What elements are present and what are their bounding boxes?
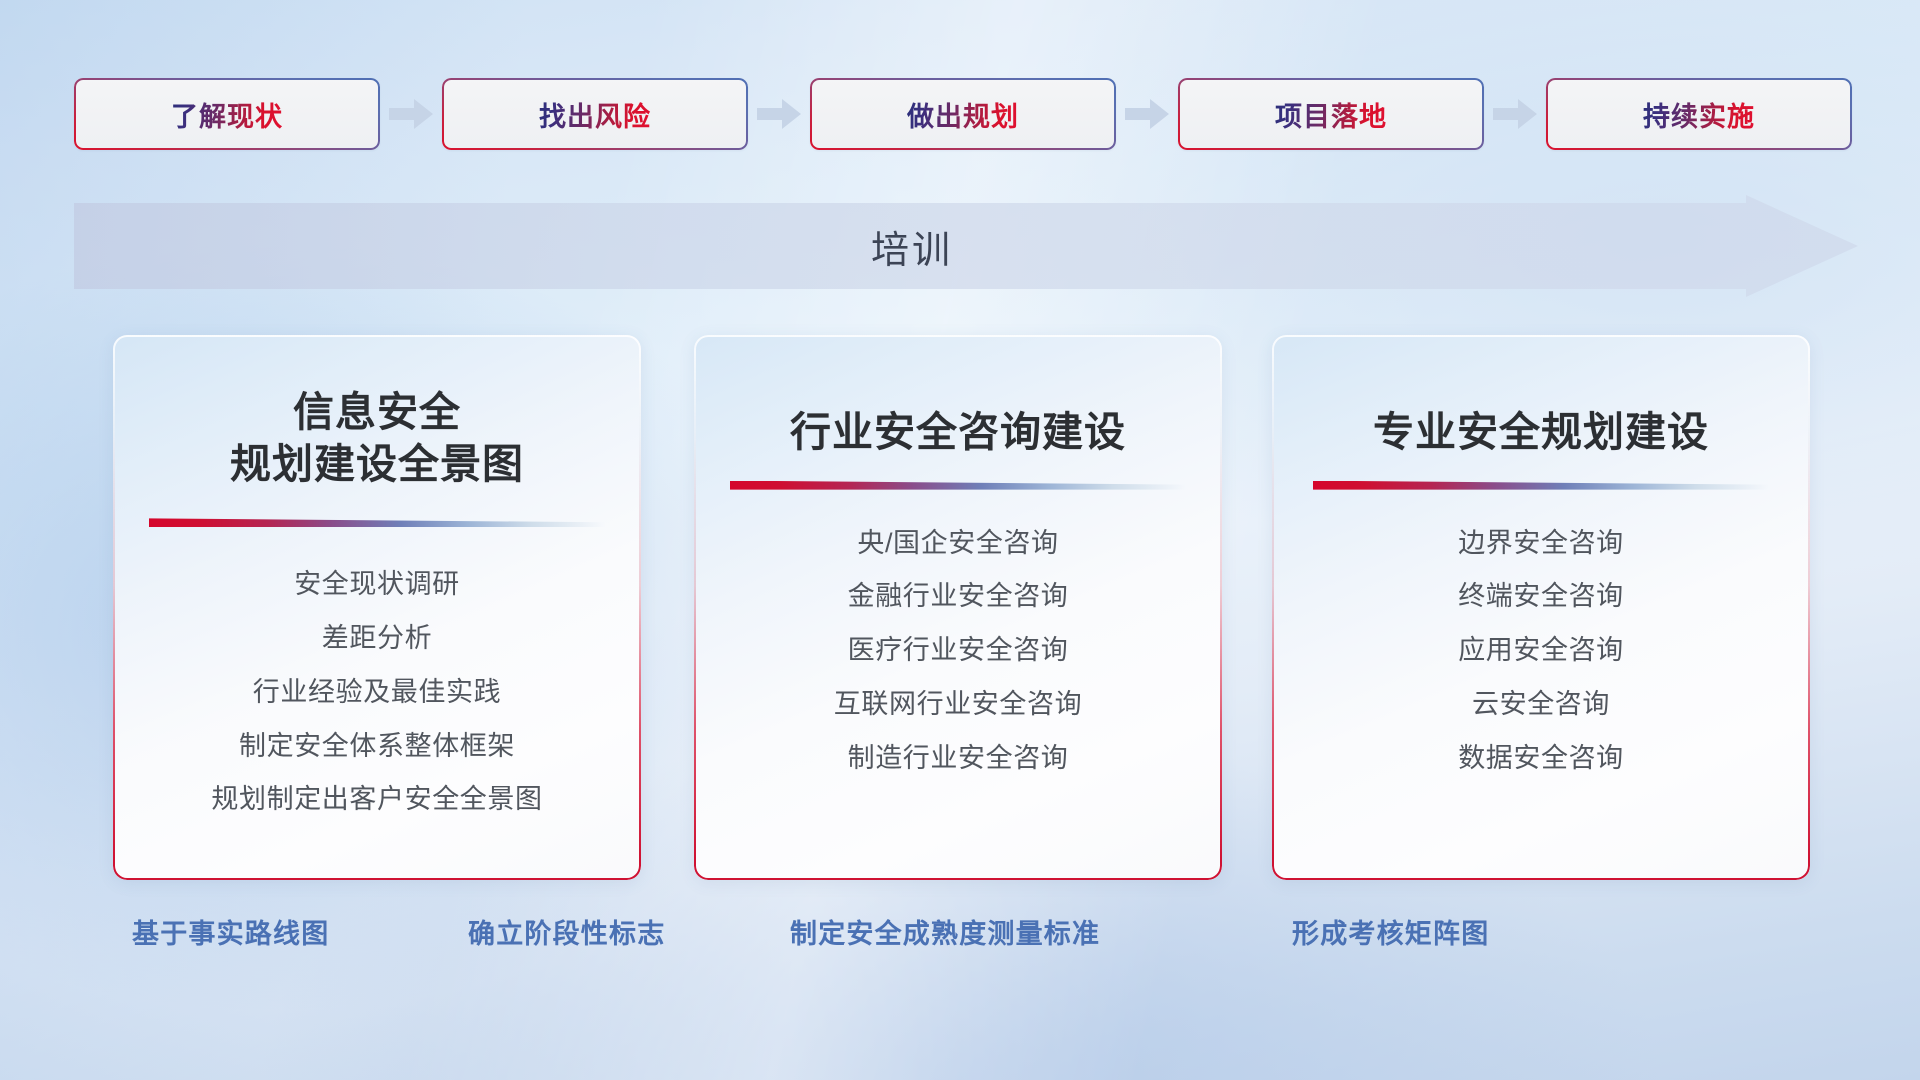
list-item: 终端安全咨询 bbox=[1458, 575, 1624, 619]
process-step-5[interactable]: 持续实施 bbox=[1546, 78, 1852, 150]
list-item: 金融行业安全咨询 bbox=[848, 575, 1069, 619]
process-step-label: 了解现状 bbox=[171, 95, 283, 134]
list-item: 安全现状调研 bbox=[294, 563, 460, 607]
process-step-label: 做出规划 bbox=[907, 95, 1019, 134]
list-item: 医疗行业安全咨询 bbox=[848, 629, 1069, 673]
list-item: 互联网行业安全咨询 bbox=[834, 683, 1082, 727]
training-banner-label: 培训 bbox=[74, 195, 1750, 297]
list-item: 规划制定出客户安全全景图 bbox=[211, 778, 542, 822]
list-item: 制造行业安全咨询 bbox=[848, 737, 1069, 781]
caption-roadmap: 基于事实路线图 bbox=[132, 912, 329, 951]
list-item: 云安全咨询 bbox=[1472, 683, 1610, 727]
process-step-label: 项目落地 bbox=[1275, 95, 1387, 134]
card-title: 行业安全咨询建设 bbox=[790, 407, 1126, 459]
list-item: 数据安全咨询 bbox=[1458, 737, 1624, 781]
process-step-label: 找出风险 bbox=[539, 95, 651, 134]
card-item-list: 安全现状调研 差距分析 行业经验及最佳实践 制定安全体系整体框架 规划制定出客户… bbox=[139, 563, 615, 822]
list-item: 边界安全咨询 bbox=[1458, 522, 1624, 566]
card-accent-rule bbox=[1313, 481, 1769, 490]
card-accent-rule bbox=[730, 481, 1186, 490]
process-step-4[interactable]: 项目落地 bbox=[1178, 78, 1484, 150]
caption-maturity-standard: 制定安全成熟度测量标准 bbox=[790, 912, 1100, 951]
card-title: 信息安全 规划建设全景图 bbox=[230, 387, 524, 490]
list-item: 制定安全体系整体框架 bbox=[239, 725, 515, 769]
card-professional-security-planning[interactable]: 专业安全规划建设 边界安全咨询 终端安全咨询 应用安全咨询 云安全咨询 数据安全… bbox=[1272, 335, 1810, 880]
step-arrow-icon-3 bbox=[1116, 99, 1178, 129]
list-item: 行业经验及最佳实践 bbox=[253, 671, 501, 715]
process-step-label: 持续实施 bbox=[1643, 95, 1755, 134]
step-arrow-icon-1 bbox=[380, 99, 442, 129]
card-item-list: 边界安全咨询 终端安全咨询 应用安全咨询 云安全咨询 数据安全咨询 bbox=[1298, 522, 1784, 781]
list-item: 应用安全咨询 bbox=[1458, 629, 1624, 673]
caption-milestones: 确立阶段性标志 bbox=[468, 912, 665, 951]
card-industry-security-consulting[interactable]: 行业安全咨询建设 央/国企安全咨询 金融行业安全咨询 医疗行业安全咨询 互联网行… bbox=[694, 335, 1222, 880]
process-step-flow: 了解现状 找出风险 做出规划 项目落地 bbox=[74, 78, 1854, 150]
list-item: 差距分析 bbox=[322, 617, 432, 661]
training-banner: 培训 bbox=[74, 195, 1858, 297]
caption-row: 基于事实路线图 确立阶段性标志 制定安全成熟度测量标准 形成考核矩阵图 bbox=[0, 912, 1920, 960]
step-arrow-icon-2 bbox=[748, 99, 810, 129]
process-step-2[interactable]: 找出风险 bbox=[442, 78, 748, 150]
card-accent-rule bbox=[149, 518, 605, 527]
card-group: 信息安全 规划建设全景图 安全现状调研 差距分析 行业经验及最佳实践 制定安全体… bbox=[0, 335, 1920, 880]
card-information-security-panorama[interactable]: 信息安全 规划建设全景图 安全现状调研 差距分析 行业经验及最佳实践 制定安全体… bbox=[113, 335, 641, 880]
process-step-3[interactable]: 做出规划 bbox=[810, 78, 1116, 150]
slide-canvas: 了解现状 找出风险 做出规划 项目落地 bbox=[0, 0, 1920, 1080]
process-step-1[interactable]: 了解现状 bbox=[74, 78, 380, 150]
card-title: 专业安全规划建设 bbox=[1373, 407, 1709, 459]
card-item-list: 央/国企安全咨询 金融行业安全咨询 医疗行业安全咨询 互联网行业安全咨询 制造行… bbox=[720, 522, 1196, 781]
step-arrow-icon-4 bbox=[1484, 99, 1546, 129]
list-item: 央/国企安全咨询 bbox=[857, 522, 1058, 566]
caption-assessment-matrix: 形成考核矩阵图 bbox=[1292, 912, 1489, 951]
